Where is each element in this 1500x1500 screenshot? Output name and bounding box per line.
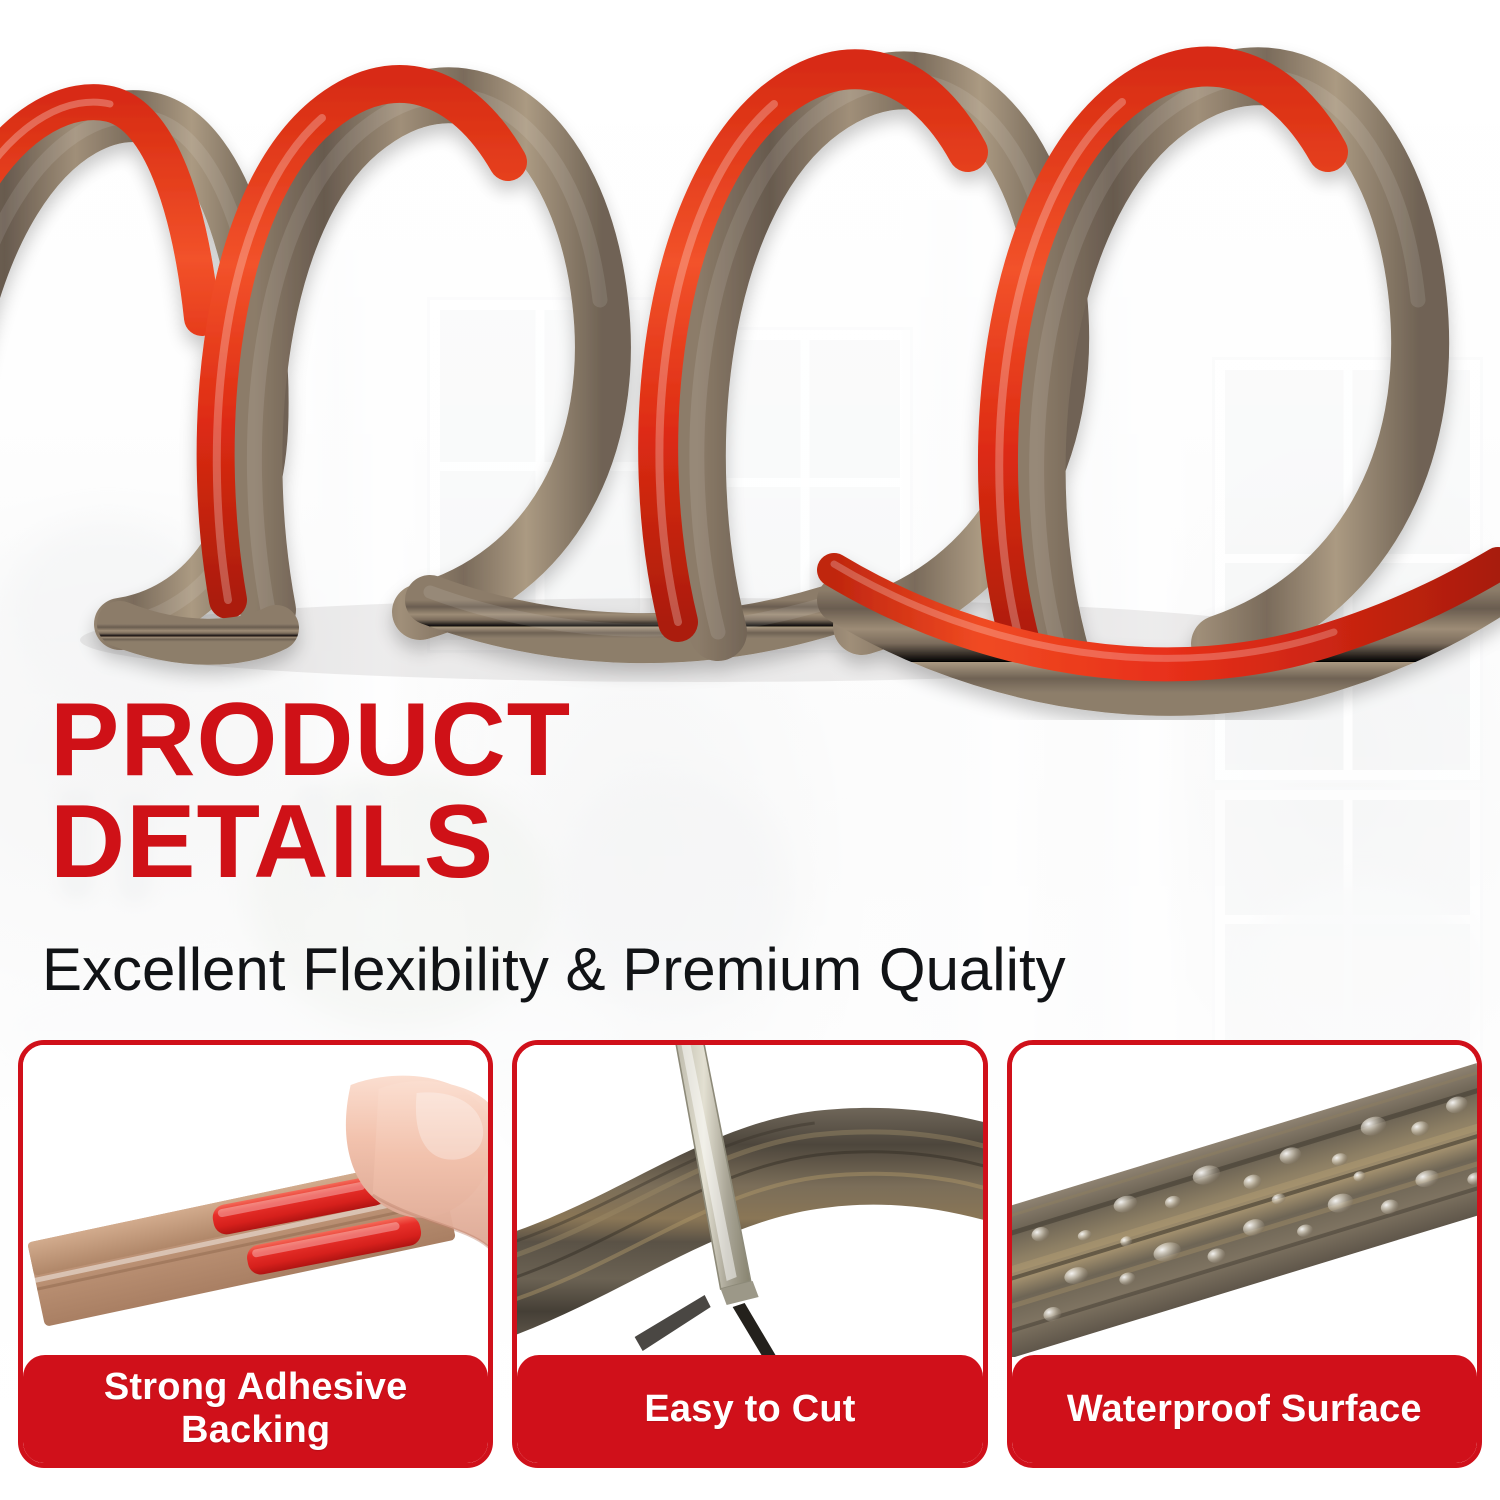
page-title-line-2: DETAILS (50, 792, 810, 894)
scissors-cutting-photo (517, 1045, 982, 1357)
feature-card-strong-adhesive-backing[interactable]: Strong Adhesive Backing (18, 1040, 493, 1468)
hero-coiled-strip (0, 0, 1500, 720)
page-subtitle: Excellent Flexibility & Premium Quality (42, 935, 1066, 1004)
adhesive-peel-photo (23, 1045, 488, 1357)
feature-card-caption: Waterproof Surface (1012, 1355, 1477, 1463)
feature-card-waterproof-surface[interactable]: Waterproof Surface (1007, 1040, 1482, 1468)
feature-card-caption: Easy to Cut (517, 1355, 982, 1463)
feature-card-caption: Strong Adhesive Backing (23, 1355, 488, 1463)
feature-card-easy-to-cut[interactable]: Easy to Cut (512, 1040, 987, 1468)
page-title-line-1: PRODUCT (50, 690, 810, 792)
water-droplets-photo (1012, 1045, 1477, 1357)
page-title: PRODUCT DETAILS (50, 690, 810, 894)
product-details-page: PRODUCT DETAILS Excellent Flexibility & … (0, 0, 1500, 1500)
feature-card-list: Strong Adhesive Backing (18, 1040, 1482, 1468)
